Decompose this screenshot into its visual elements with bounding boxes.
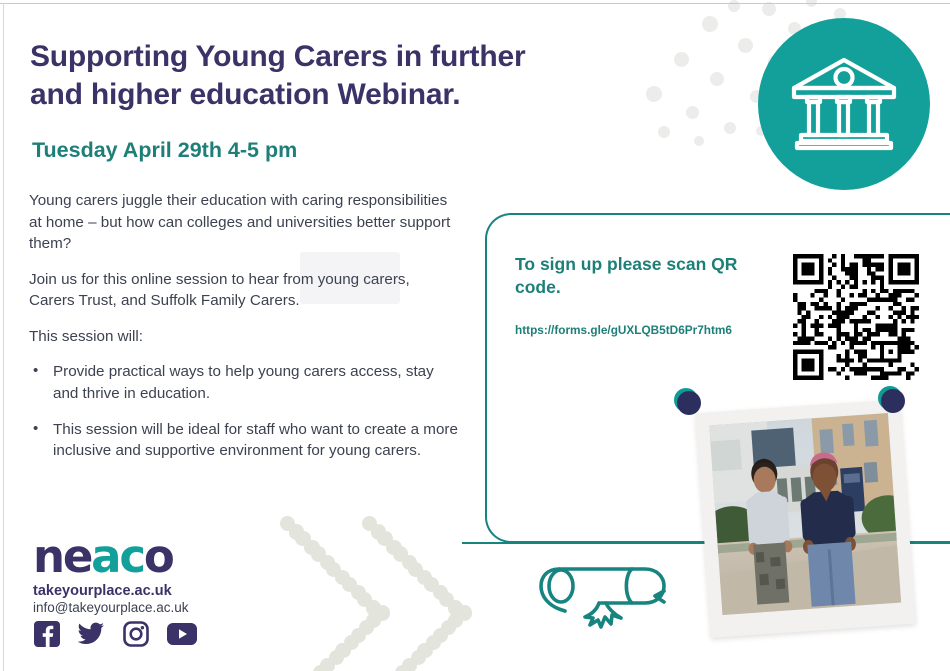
instagram-icon[interactable] (123, 621, 149, 647)
decorative-dot (402, 555, 417, 570)
students-photo-frame (695, 399, 915, 638)
decorative-dot (448, 613, 463, 628)
decorative-dot (426, 635, 441, 650)
decorative-dot (351, 628, 366, 643)
neaco-logo: neaco takeyourplace.ac.uk info@takeyourp… (33, 534, 189, 615)
decorative-dot (674, 52, 689, 67)
page-top-edge (0, 3, 950, 4)
page-title-line2: and higher education Webinar. (30, 76, 630, 114)
decorative-dot (326, 562, 341, 577)
logo-part-3: o (144, 530, 173, 583)
decorative-dot (439, 592, 454, 607)
signup-heading: To sign up please scan QR code. (515, 253, 765, 299)
decorative-dot (366, 600, 381, 615)
decorative-dot (411, 650, 426, 665)
decorative-dot (738, 38, 753, 53)
decorative-dot (351, 585, 366, 600)
facebook-icon[interactable] (34, 621, 60, 647)
twitter-icon[interactable] (78, 621, 105, 647)
list-lead: This session will: (29, 326, 459, 348)
list-item: This session will be ideal for staff who… (29, 419, 459, 462)
decorative-dot (335, 643, 350, 658)
decorative-dot (433, 628, 448, 643)
decorative-dot (313, 665, 328, 671)
decorative-dot (694, 136, 704, 146)
decorative-dot (402, 658, 417, 671)
decorative-dot (646, 86, 662, 102)
session-bullet-list: Provide practical ways to help young car… (29, 361, 459, 461)
page-title-line1: Supporting Young Carers in further (30, 38, 630, 76)
website-url[interactable]: takeyourplace.ac.uk (33, 583, 189, 599)
decorative-dot (289, 524, 304, 539)
decorative-dot (375, 605, 390, 620)
event-datetime: Tuesday April 29th 4-5 pm (32, 138, 552, 164)
decorative-dot (320, 555, 335, 570)
decorative-dot (686, 106, 699, 119)
students-photo (709, 413, 901, 615)
decorative-dot (280, 516, 295, 531)
page-title: Supporting Young Carers in further and h… (30, 38, 630, 115)
decorative-dot (433, 585, 448, 600)
decorative-dot (366, 613, 381, 628)
decorative-dot (329, 650, 344, 665)
decorative-dot (362, 516, 377, 531)
decorative-dot (393, 546, 408, 561)
decorative-circle-left (674, 388, 698, 412)
decorative-dot (457, 605, 472, 620)
decorative-dot (658, 126, 670, 138)
decorative-dot (357, 592, 372, 607)
decorative-dot (344, 635, 359, 650)
decorative-dot (710, 72, 724, 86)
diploma-scroll-icon (535, 556, 675, 631)
decorative-dot (762, 2, 776, 16)
decorative-dot (417, 643, 432, 658)
accent-rule-right (905, 542, 950, 544)
decorative-dot (311, 546, 326, 561)
webinar-poster: Supporting Young Carers in further and h… (0, 0, 950, 671)
youtube-icon[interactable] (167, 623, 197, 645)
page-left-edge (3, 3, 4, 671)
decorative-chevron-dots (276, 516, 491, 646)
email-address[interactable]: info@takeyourplace.ac.uk (33, 600, 189, 615)
decorative-dot (441, 620, 456, 635)
accent-rule-left (462, 542, 708, 544)
decorative-dot (371, 524, 386, 539)
decorative-dot (702, 16, 718, 32)
body-copy: Young carers juggle their education with… (29, 190, 459, 476)
decorative-dot (335, 570, 350, 585)
decorative-dot (724, 122, 736, 134)
decorative-dot (320, 658, 335, 671)
social-links (34, 621, 197, 647)
decorative-dot (408, 562, 423, 577)
decorative-dot (395, 665, 410, 671)
logo-part-2: ac (91, 530, 144, 583)
decorative-dot (377, 531, 392, 546)
university-roundel (758, 18, 930, 190)
neaco-wordmark: neaco (33, 534, 189, 579)
decorative-dot (728, 0, 740, 12)
decorative-dot (424, 577, 439, 592)
intro-paragraph: Young carers juggle their education with… (29, 190, 459, 255)
logo-part-1: ne (33, 530, 91, 583)
decorative-dot (448, 600, 463, 615)
decorative-dot (295, 531, 310, 546)
decorative-dot (342, 577, 357, 592)
join-paragraph: Join us for this online session to hear … (29, 269, 459, 312)
decorative-dot (386, 540, 401, 555)
qr-code-icon[interactable] (793, 254, 919, 380)
signup-url[interactable]: https://forms.gle/gUXLQB5tD6Pr7htm6 (515, 322, 760, 339)
decorative-circle-right (878, 386, 902, 410)
list-item: Provide practical ways to help young car… (29, 361, 459, 404)
decorative-dot (304, 540, 319, 555)
decorative-dot (359, 620, 374, 635)
decorative-dot (417, 570, 432, 585)
